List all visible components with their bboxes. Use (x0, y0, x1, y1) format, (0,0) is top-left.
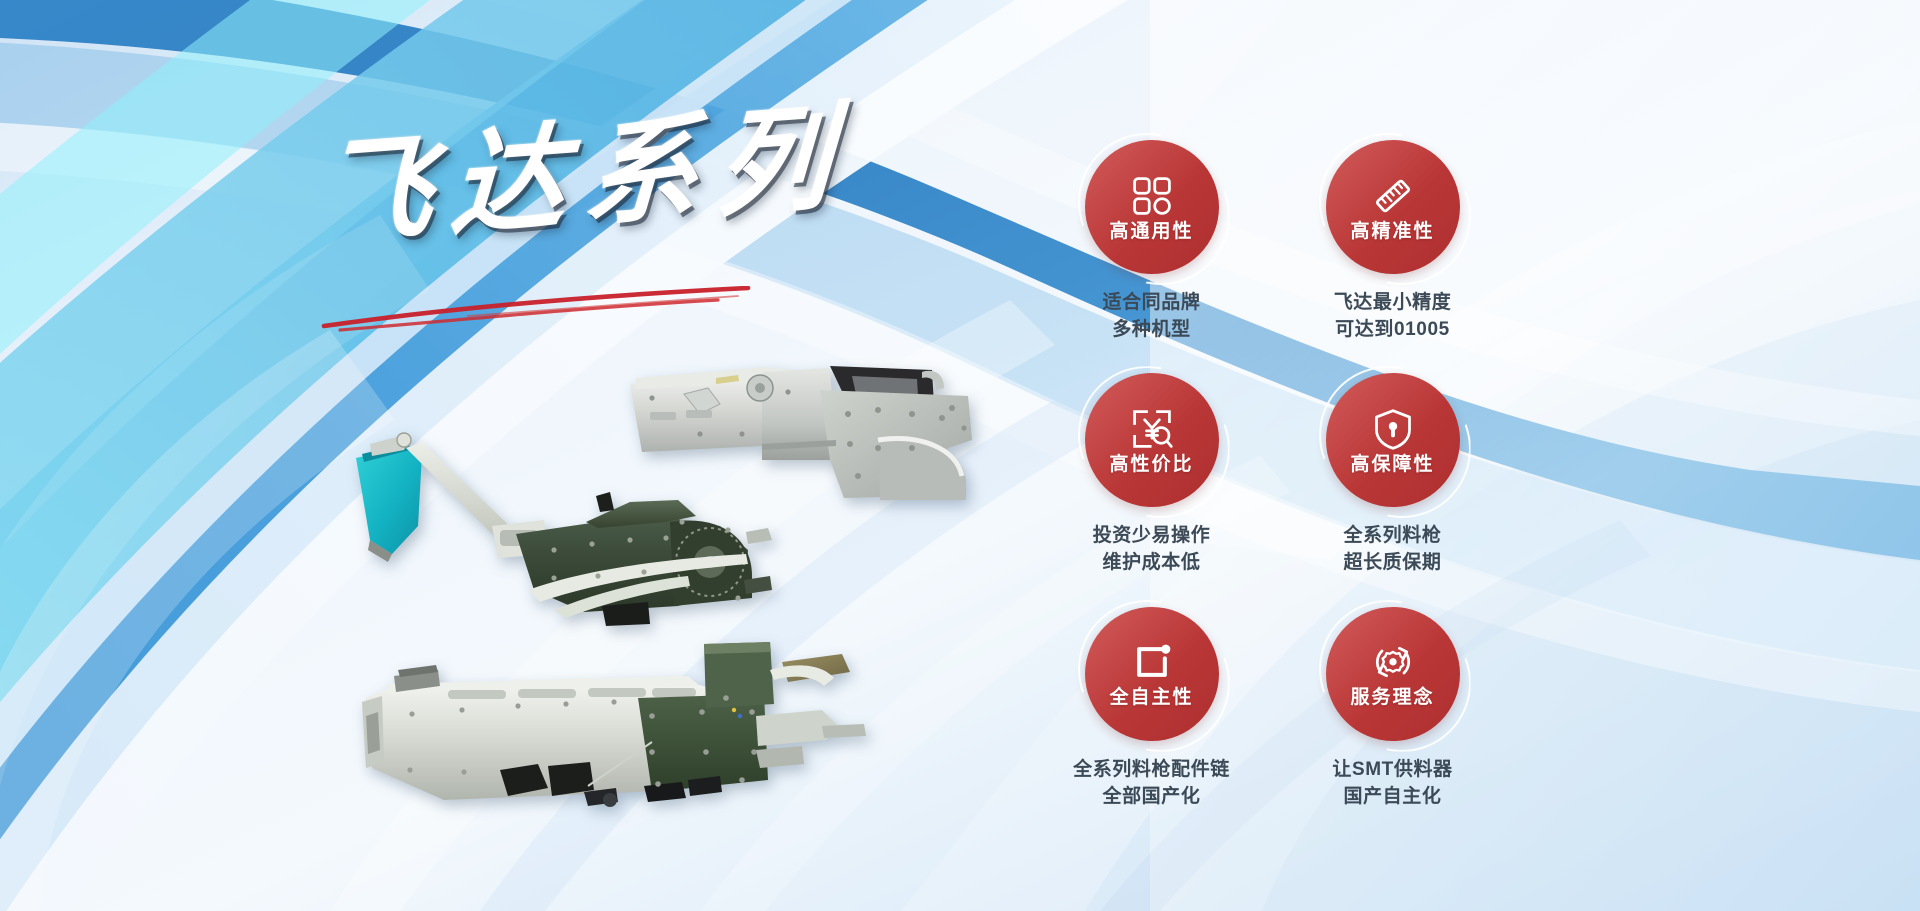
title-underline-brush (318, 286, 778, 332)
feature-description: 飞达最小精度 可达到01005 (1334, 290, 1452, 344)
feature-description: 投资少易操作 维护成本低 (1093, 523, 1211, 577)
square-dot-autonomy-icon (1130, 640, 1174, 684)
feature-badge-label: 高保障性 (1350, 455, 1434, 474)
product-image-smt-feeder-silver-green (352, 640, 872, 840)
feature-badge-circle[interactable]: 高保障性 (1326, 373, 1460, 507)
feature-item-autonomy[interactable]: 全自主性 全系列料枪配件链 全部国产化 (1062, 607, 1241, 840)
feature-item-warranty[interactable]: 高保障性 全系列料枪 超长质保期 (1303, 373, 1482, 606)
feature-badge-circle[interactable]: 高精准性 (1326, 140, 1460, 274)
feature-desc-line: 全部国产化 (1073, 784, 1230, 811)
feature-description: 适合同品牌 多种机型 (1102, 290, 1200, 344)
feature-desc-line: 适合同品牌 (1102, 290, 1200, 317)
feature-desc-line: 维护成本低 (1093, 550, 1211, 577)
feature-desc-line: 全系列料枪配件链 (1073, 757, 1230, 784)
feature-badge-label: 高通用性 (1109, 222, 1193, 241)
grid-four-squares-icon (1130, 174, 1174, 218)
feature-badge-label: 全自主性 (1109, 688, 1193, 707)
feature-description: 全系列料枪配件链 全部国产化 (1073, 757, 1230, 811)
banner-title-block: 飞达系列 (318, 138, 878, 328)
feature-description: 让SMT供料器 国产自主化 (1332, 757, 1452, 811)
feature-badge-label: 高精准性 (1350, 222, 1434, 241)
feature-badge-circle[interactable]: 全自主性 (1085, 607, 1219, 741)
ruler-icon (1371, 174, 1415, 218)
feature-item-value[interactable]: 高性价比 投资少易操作 维护成本低 (1062, 373, 1241, 606)
feature-desc-line: 让SMT供料器 (1332, 757, 1452, 784)
feature-item-service[interactable]: 服务理念 让SMT供料器 国产自主化 (1303, 607, 1482, 840)
feature-item-precision[interactable]: 高精准性 飞达最小精度 可达到01005 (1303, 140, 1482, 373)
product-image-smt-feeder-green-teal (348, 430, 828, 640)
feature-desc-line: 多种机型 (1102, 317, 1200, 344)
feature-desc-line: 全系列料枪 (1343, 523, 1441, 550)
promo-banner: 飞达系列 (0, 0, 1920, 911)
feature-badge-grid: 高通用性 适合同品牌 多种机型 高精准性 飞达最小精度 可达到01005 (1062, 140, 1482, 840)
feature-badge-circle[interactable]: 高通用性 (1085, 140, 1219, 274)
feature-badge-circle[interactable]: 服务理念 (1326, 607, 1460, 741)
feature-badge-label: 服务理念 (1350, 688, 1434, 707)
feature-description: 全系列料枪 超长质保期 (1343, 523, 1441, 577)
feature-desc-line: 可达到01005 (1334, 317, 1452, 344)
feature-desc-line: 飞达最小精度 (1334, 290, 1452, 317)
gear-refresh-service-icon (1371, 640, 1415, 684)
feature-desc-line: 投资少易操作 (1093, 523, 1211, 550)
feature-item-universality[interactable]: 高通用性 适合同品牌 多种机型 (1062, 140, 1241, 373)
feature-badge-label: 高性价比 (1109, 455, 1193, 474)
feature-badge-circle[interactable]: 高性价比 (1085, 373, 1219, 507)
feature-desc-line: 国产自主化 (1332, 784, 1452, 811)
page-title: 飞达系列 (315, 97, 879, 254)
feature-desc-line: 超长质保期 (1343, 550, 1441, 577)
shield-lock-icon (1371, 407, 1415, 451)
yuan-price-search-icon (1130, 407, 1174, 451)
